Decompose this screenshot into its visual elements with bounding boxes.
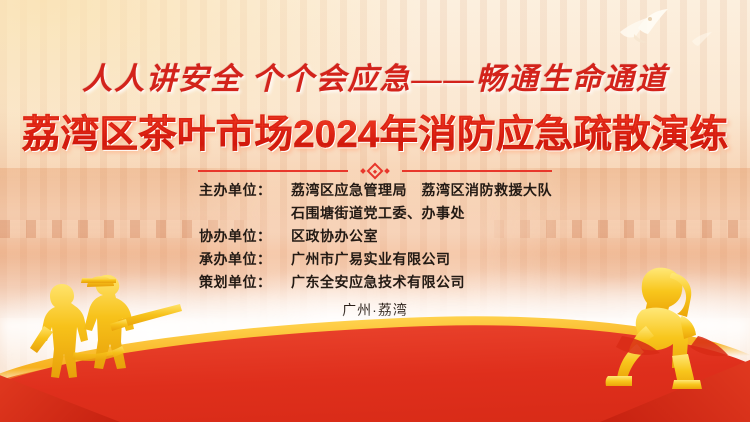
organizer-row: 协办单位： 区政协办公室 (199, 226, 551, 246)
divider-rule-right (402, 170, 552, 172)
organizer-label: 主办单位： (199, 180, 291, 200)
organizer-row: 主办单位： 石围塘街道党工委、办事处 (199, 203, 551, 223)
organizer-label: 协办单位： (199, 226, 291, 246)
organizer-row: 承办单位： 广州市广易实业有限公司 (199, 249, 551, 269)
organizer-value: 广东全安应急技术有限公司 (291, 272, 465, 292)
firefighters-hose-icon (14, 266, 204, 386)
organizer-row: 策划单位： 广东全安应急技术有限公司 (199, 272, 551, 292)
dove-icon (614, 8, 672, 48)
firefighter-crouching-icon (586, 264, 736, 394)
divider-rule-left (198, 170, 348, 172)
organizer-label: 策划单位： (199, 272, 291, 292)
organizer-value: 荔湾区应急管理局 荔湾区消防救援大队 (291, 180, 552, 200)
poster-canvas: 人人讲安全 个个会应急——畅通生命通道 荔湾区茶叶市场2024年消防应急疏散演练… (0, 0, 750, 422)
divider (0, 162, 750, 180)
page-title: 荔湾区茶叶市场2024年消防应急疏散演练 (0, 103, 750, 158)
dove-icon-small (690, 30, 716, 48)
organizer-row: 主办单位： 荔湾区应急管理局 荔湾区消防救援大队 (199, 180, 551, 200)
poster-slogan: 人人讲安全 个个会应急——畅通生命通道 (0, 54, 750, 98)
organizer-value: 区政协办公室 (291, 226, 378, 246)
organizer-label: 承办单位： (199, 249, 291, 269)
diamond-ornament-icon (357, 163, 393, 179)
organizer-value: 石围塘街道党工委、办事处 (291, 203, 465, 223)
organizer-value: 广州市广易实业有限公司 (291, 249, 451, 269)
